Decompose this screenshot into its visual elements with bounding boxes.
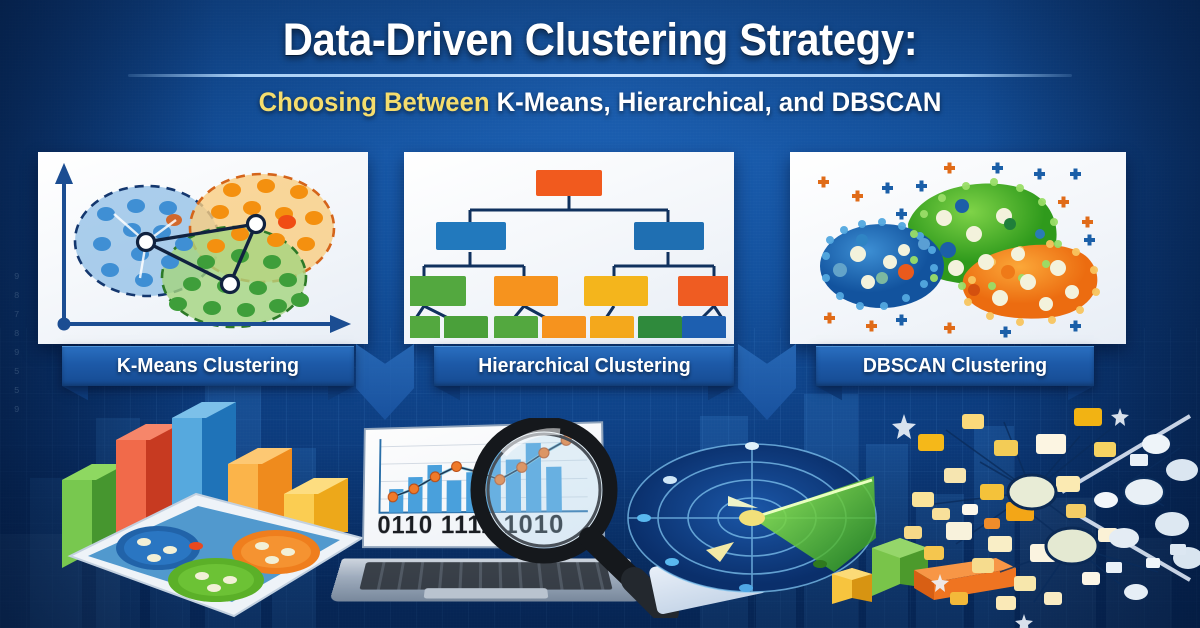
panel-hierarchical — [404, 152, 734, 344]
ribbon-label-kmeans: K-Means Clustering — [117, 355, 299, 378]
title-divider — [128, 74, 1072, 77]
tablet-gear-green — [168, 558, 264, 602]
gold-cube — [832, 568, 872, 604]
panel-dbscan — [790, 152, 1126, 344]
page-title: Data-Driven Clustering Strategy: — [42, 14, 1158, 66]
subtitle-highlight: Choosing Between — [259, 87, 490, 117]
dendrogram-nodes — [410, 170, 728, 338]
panel-kmeans — [38, 152, 368, 344]
ribbon-dbscan[interactable]: DBSCAN Clustering — [816, 346, 1094, 386]
hierarchical-dendrogram — [410, 158, 728, 338]
ribbon-label-dbscan: DBSCAN Clustering — [863, 355, 1047, 378]
montage-tablet-clusters — [66, 482, 366, 628]
ribbon-hierarchical[interactable]: Hierarchical Clustering — [434, 346, 734, 386]
dbscan-illustration — [796, 158, 1120, 338]
network-graph — [884, 396, 1200, 628]
ribbon-kmeans[interactable]: K-Means Clustering — [62, 346, 354, 386]
kmeans-illustration — [44, 158, 362, 338]
tablet-accent-dot — [189, 542, 203, 550]
page-subtitle: Choosing Between K-Means, Hierarchical, … — [30, 87, 1170, 118]
infographic-canvas: 9 8 7 8 9 5 5 9 Data-Driven Clustering S… — [0, 0, 1200, 628]
header-block: Data-Driven Clustering Strategy: Choosin… — [0, 0, 1200, 118]
ribbon-label-hierarchical: Hierarchical Clustering — [478, 355, 690, 378]
subtitle-rest: K-Means, Hierarchical, and DBSCAN — [497, 87, 942, 117]
